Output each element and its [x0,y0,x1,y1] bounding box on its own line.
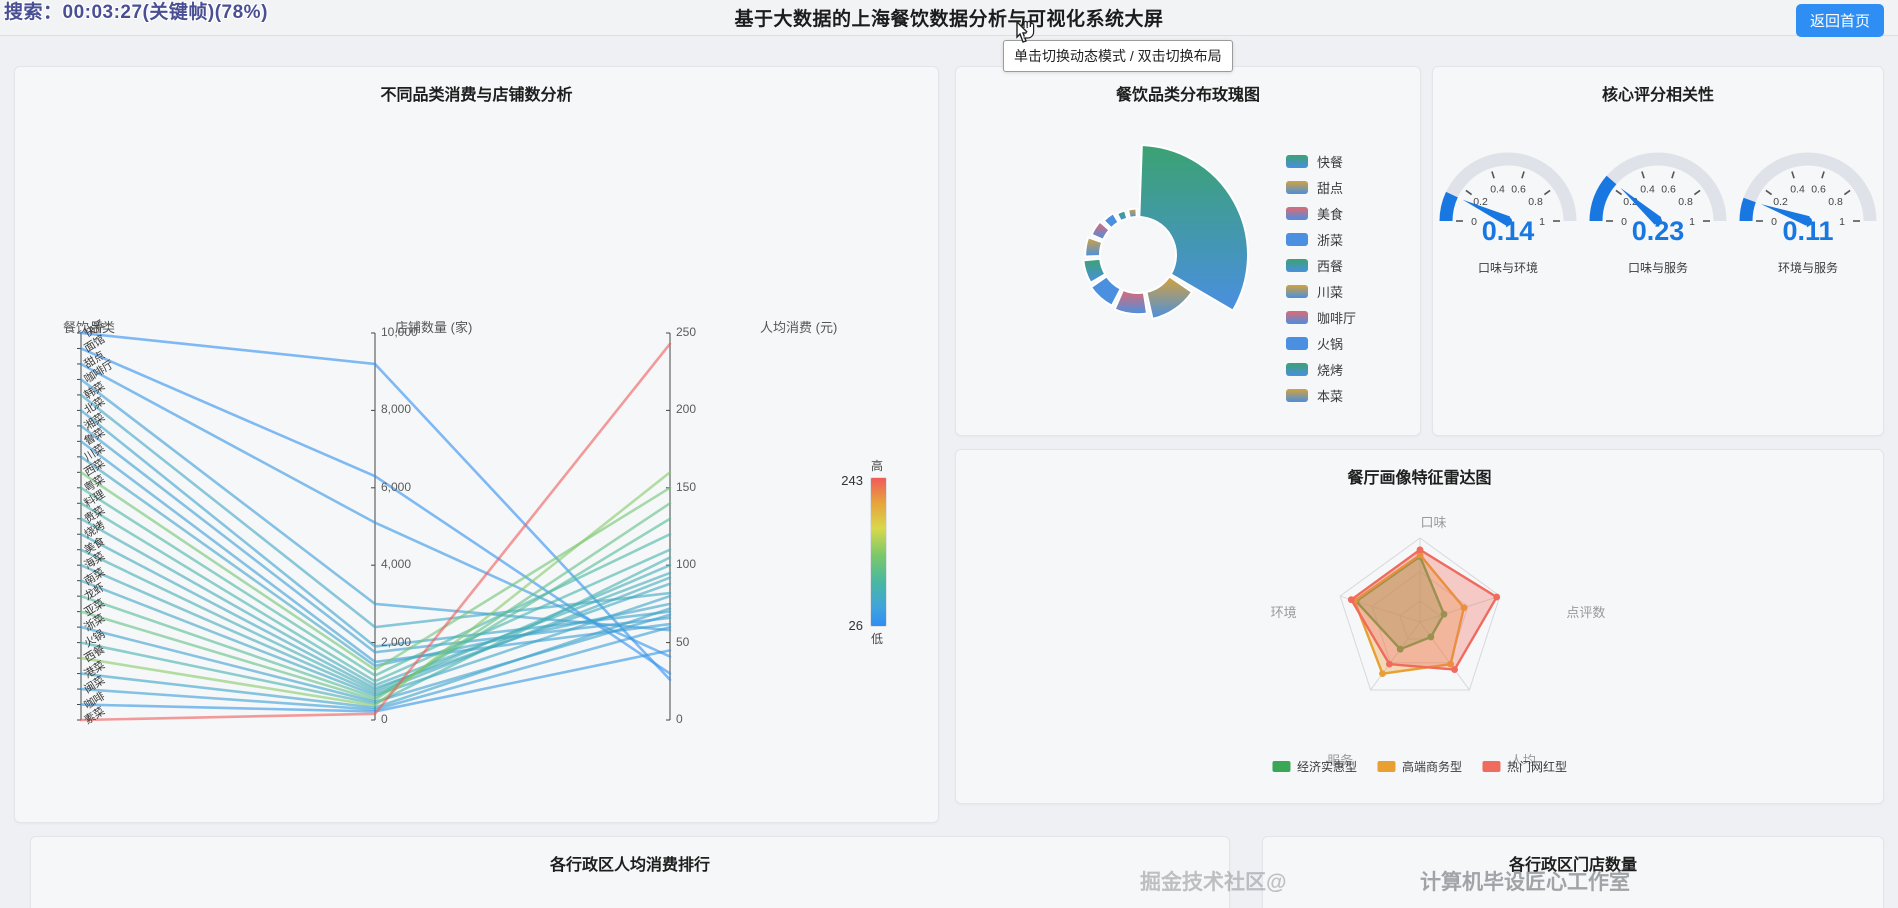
panel-radar-title: 餐厅画像特征雷达图 [956,450,1883,488]
parallel-value-tick: 250 [676,325,696,339]
rose-legend-item[interactable]: 本菜 [1286,386,1356,405]
rose-legend-label: 西餐 [1317,256,1343,275]
rose-legend-label: 本菜 [1317,386,1343,405]
svg-text:0.6: 0.6 [1811,184,1826,196]
svg-text:0.8: 0.8 [1828,196,1843,208]
radar-legend-item[interactable]: 经济实惠型 [1272,758,1357,775]
radar-axis-label: 点评数 [1566,602,1605,621]
colorbar-high-label: 高 [871,457,883,474]
panel-gauge-chart: 核心评分相关性 00.20.40.60.810.14口味与环境00.20.40.… [1432,66,1884,436]
panel-district-avg-spend: 各行政区人均消费排行 [30,836,1230,908]
parallel-value-tick: 6,000 [381,480,411,494]
svg-text:0.8: 0.8 [1678,196,1693,208]
radar-axis-label: 口味 [1421,512,1447,531]
radar-legend-swatch [1377,761,1395,772]
colorbar-low-label: 低 [871,630,883,647]
parallel-value-tick: 2,000 [381,635,411,649]
panel-district-store-count: 各行政区门店数量 [1262,836,1884,908]
svg-text:0.4: 0.4 [1790,184,1805,196]
video-seek-overlay: 搜索：00:03:27(关键帧)(78%) [4,0,268,24]
rose-legend-swatch [1286,259,1308,272]
colorbar-gradient [870,477,887,627]
rose-legend-label: 咖啡厅 [1317,308,1356,327]
rose-legend-label: 甜点 [1317,178,1343,197]
parallel-value-tick: 10,000 [381,325,418,339]
svg-text:1: 1 [1839,216,1845,228]
rose-legend-item[interactable]: 烧烤 [1286,360,1356,379]
svg-text:0: 0 [1621,216,1627,228]
parallel-value-tick: 8,000 [381,402,411,416]
panel-rose-title: 餐饮品类分布玫瑰图 [956,67,1420,105]
parallel-value-tick: 100 [676,557,696,571]
radar-legend[interactable]: 经济实惠型高端商务型热门网红型 [1272,758,1567,775]
rose-chart-svg [978,115,1298,395]
svg-text:0.6: 0.6 [1661,184,1676,196]
panel-radar-chart: 餐厅画像特征雷达图 口味点评数人均服务环境 经济实惠型高端商务型热门网红型 [955,449,1884,804]
rose-legend-item[interactable]: 浙菜 [1286,230,1356,249]
gauge-label: 口味与环境 [1434,259,1582,276]
radar-chart[interactable]: 口味点评数人均服务环境 经济实惠型高端商务型热门网红型 [956,488,1883,783]
rose-legend-item[interactable]: 咖啡厅 [1286,308,1356,327]
rose-legend-swatch [1286,233,1308,246]
parallel-value-tick: 0 [381,712,388,726]
svg-text:0: 0 [1471,216,1477,228]
panel-gauge-title: 核心评分相关性 [1433,67,1883,105]
panel-parallel-title: 不同品类消费与店铺数分析 [15,67,938,105]
rose-legend-label: 川菜 [1317,282,1343,301]
rose-legend-item[interactable]: 甜点 [1286,178,1356,197]
radar-legend-label: 热门网红型 [1507,758,1567,775]
panel-bar2-title: 各行政区门店数量 [1263,837,1883,875]
parallel-value-tick: 0 [676,712,683,726]
parallel-value-tick: 50 [676,635,689,649]
rose-legend[interactable]: 快餐甜点美食浙菜西餐川菜咖啡厅火锅烧烤本菜 [1286,152,1356,412]
radar-axis-label: 环境 [1271,602,1297,621]
rose-legend-swatch [1286,181,1308,194]
radar-legend-item[interactable]: 高端商务型 [1377,758,1462,775]
colorbar-min-value: 26 [849,618,863,633]
rose-legend-label: 快餐 [1317,152,1343,171]
parallel-value-tick: 200 [676,402,696,416]
radar-legend-swatch [1272,761,1290,772]
rose-chart[interactable]: 快餐甜点美食浙菜西餐川菜咖啡厅火锅烧烤本菜 [956,105,1420,405]
radar-legend-swatch [1482,761,1500,772]
colorbar-max-value: 243 [841,473,863,488]
panel-parallel-coordinates: 不同品类消费与店铺数分析 餐饮品类 店铺数量 (家) 人均消费 (元) 快餐面馆… [14,66,939,823]
parallel-value-tick: 150 [676,480,696,494]
rose-legend-swatch [1286,311,1308,324]
svg-text:0.8: 0.8 [1528,196,1543,208]
rose-legend-swatch [1286,389,1308,402]
panel-rose-chart: 餐饮品类分布玫瑰图 快餐甜点美食浙菜西餐川菜咖啡厅火锅烧烤本菜 [955,66,1421,436]
radar-legend-item[interactable]: 热门网红型 [1482,758,1567,775]
svg-text:0: 0 [1771,216,1777,228]
rose-legend-item[interactable]: 川菜 [1286,282,1356,301]
gauge-label: 环境与服务 [1734,259,1882,276]
svg-text:0.4: 0.4 [1640,184,1655,196]
rose-legend-label: 美食 [1317,204,1343,223]
svg-text:0.6: 0.6 [1511,184,1526,196]
rose-legend-item[interactable]: 快餐 [1286,152,1356,171]
home-button[interactable]: 返回首页 [1796,4,1884,37]
radar-legend-label: 高端商务型 [1402,758,1462,775]
rose-legend-swatch [1286,155,1308,168]
rose-legend-label: 烧烤 [1317,360,1343,379]
parallel-chart[interactable]: 餐饮品类 店铺数量 (家) 人均消费 (元) 快餐面馆甜点咖啡厅韩菜北菜湘菜鲁菜… [15,105,938,805]
rose-legend-swatch [1286,207,1308,220]
dashboard-root: 基于大数据的上海餐饮数据分析与可视化系统大屏 返回首页 搜索：00:03:27(… [0,0,1898,908]
gauge-0.23[interactable]: 00.20.40.60.810.23口味与服务 [1584,109,1732,276]
tooltip: 单击切换动态模式 / 双击切换布局 [1003,40,1233,72]
rose-legend-swatch [1286,337,1308,350]
gauge-label: 口味与服务 [1584,259,1732,276]
rose-legend-label: 火锅 [1317,334,1343,353]
gauge-0.11[interactable]: 00.20.40.60.810.11环境与服务 [1734,109,1882,276]
rose-legend-label: 浙菜 [1317,230,1343,249]
radar-legend-label: 经济实惠型 [1297,758,1357,775]
svg-text:1: 1 [1539,216,1545,228]
rose-legend-item[interactable]: 美食 [1286,204,1356,223]
parallel-lines-svg [15,105,940,805]
gauge-group[interactable]: 00.20.40.60.810.14口味与环境00.20.40.60.810.2… [1433,109,1883,276]
rose-legend-swatch [1286,363,1308,376]
svg-text:0.4: 0.4 [1490,184,1505,196]
svg-text:1: 1 [1689,216,1695,228]
gauge-0.14[interactable]: 00.20.40.60.810.14口味与环境 [1434,109,1582,276]
rose-legend-swatch [1286,285,1308,298]
svg-text:0.2: 0.2 [1773,196,1788,208]
parallel-colorbar[interactable]: 高 243 26 低 [870,477,887,627]
rose-legend-item[interactable]: 西餐 [1286,256,1356,275]
panel-bar1-title: 各行政区人均消费排行 [31,837,1229,875]
top-header-bar: 基于大数据的上海餐饮数据分析与可视化系统大屏 返回首页 [0,0,1898,36]
rose-legend-item[interactable]: 火锅 [1286,334,1356,353]
parallel-value-tick: 4,000 [381,557,411,571]
page-title: 基于大数据的上海餐饮数据分析与可视化系统大屏 [734,4,1163,31]
